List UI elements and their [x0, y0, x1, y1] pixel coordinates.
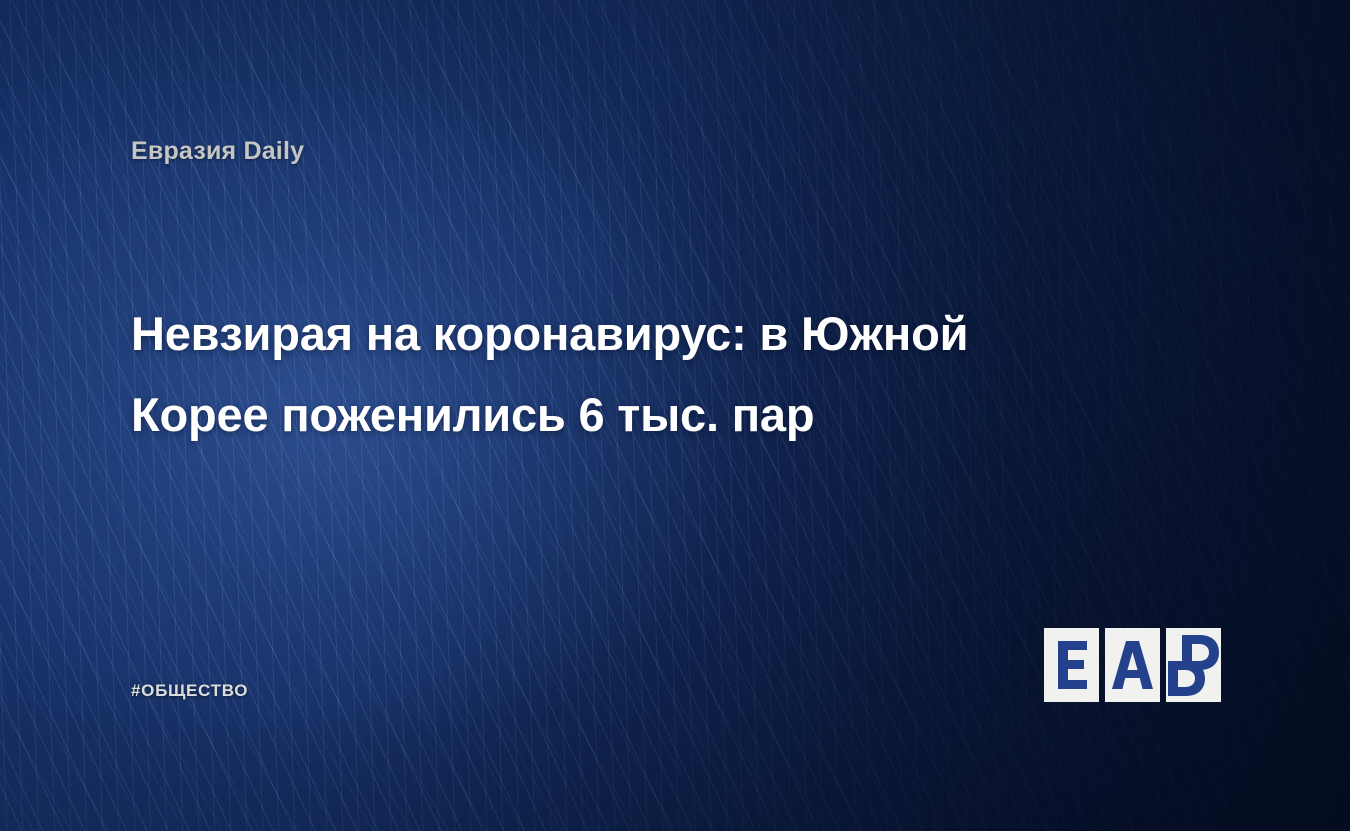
brand-logotype: Евразия Daily	[131, 137, 304, 166]
logo-letter-e-icon	[1044, 628, 1099, 702]
category-tag: #ОБЩЕСТВО	[131, 681, 248, 701]
logo-letter-d-icon	[1166, 628, 1221, 702]
logo-letter-a-icon	[1105, 628, 1160, 702]
logo-tile-d	[1166, 628, 1221, 702]
logo-tile-a	[1105, 628, 1160, 702]
page-title: Невзирая на коронавирус: в Южной Корее п…	[131, 293, 1106, 455]
news-cover-card: Евразия Daily Невзирая на коронавирус: в…	[0, 0, 1350, 831]
eadaily-logo	[1044, 628, 1222, 702]
logo-tile-e	[1044, 628, 1099, 702]
cover-content: Евразия Daily Невзирая на коронавирус: в…	[0, 0, 1350, 831]
